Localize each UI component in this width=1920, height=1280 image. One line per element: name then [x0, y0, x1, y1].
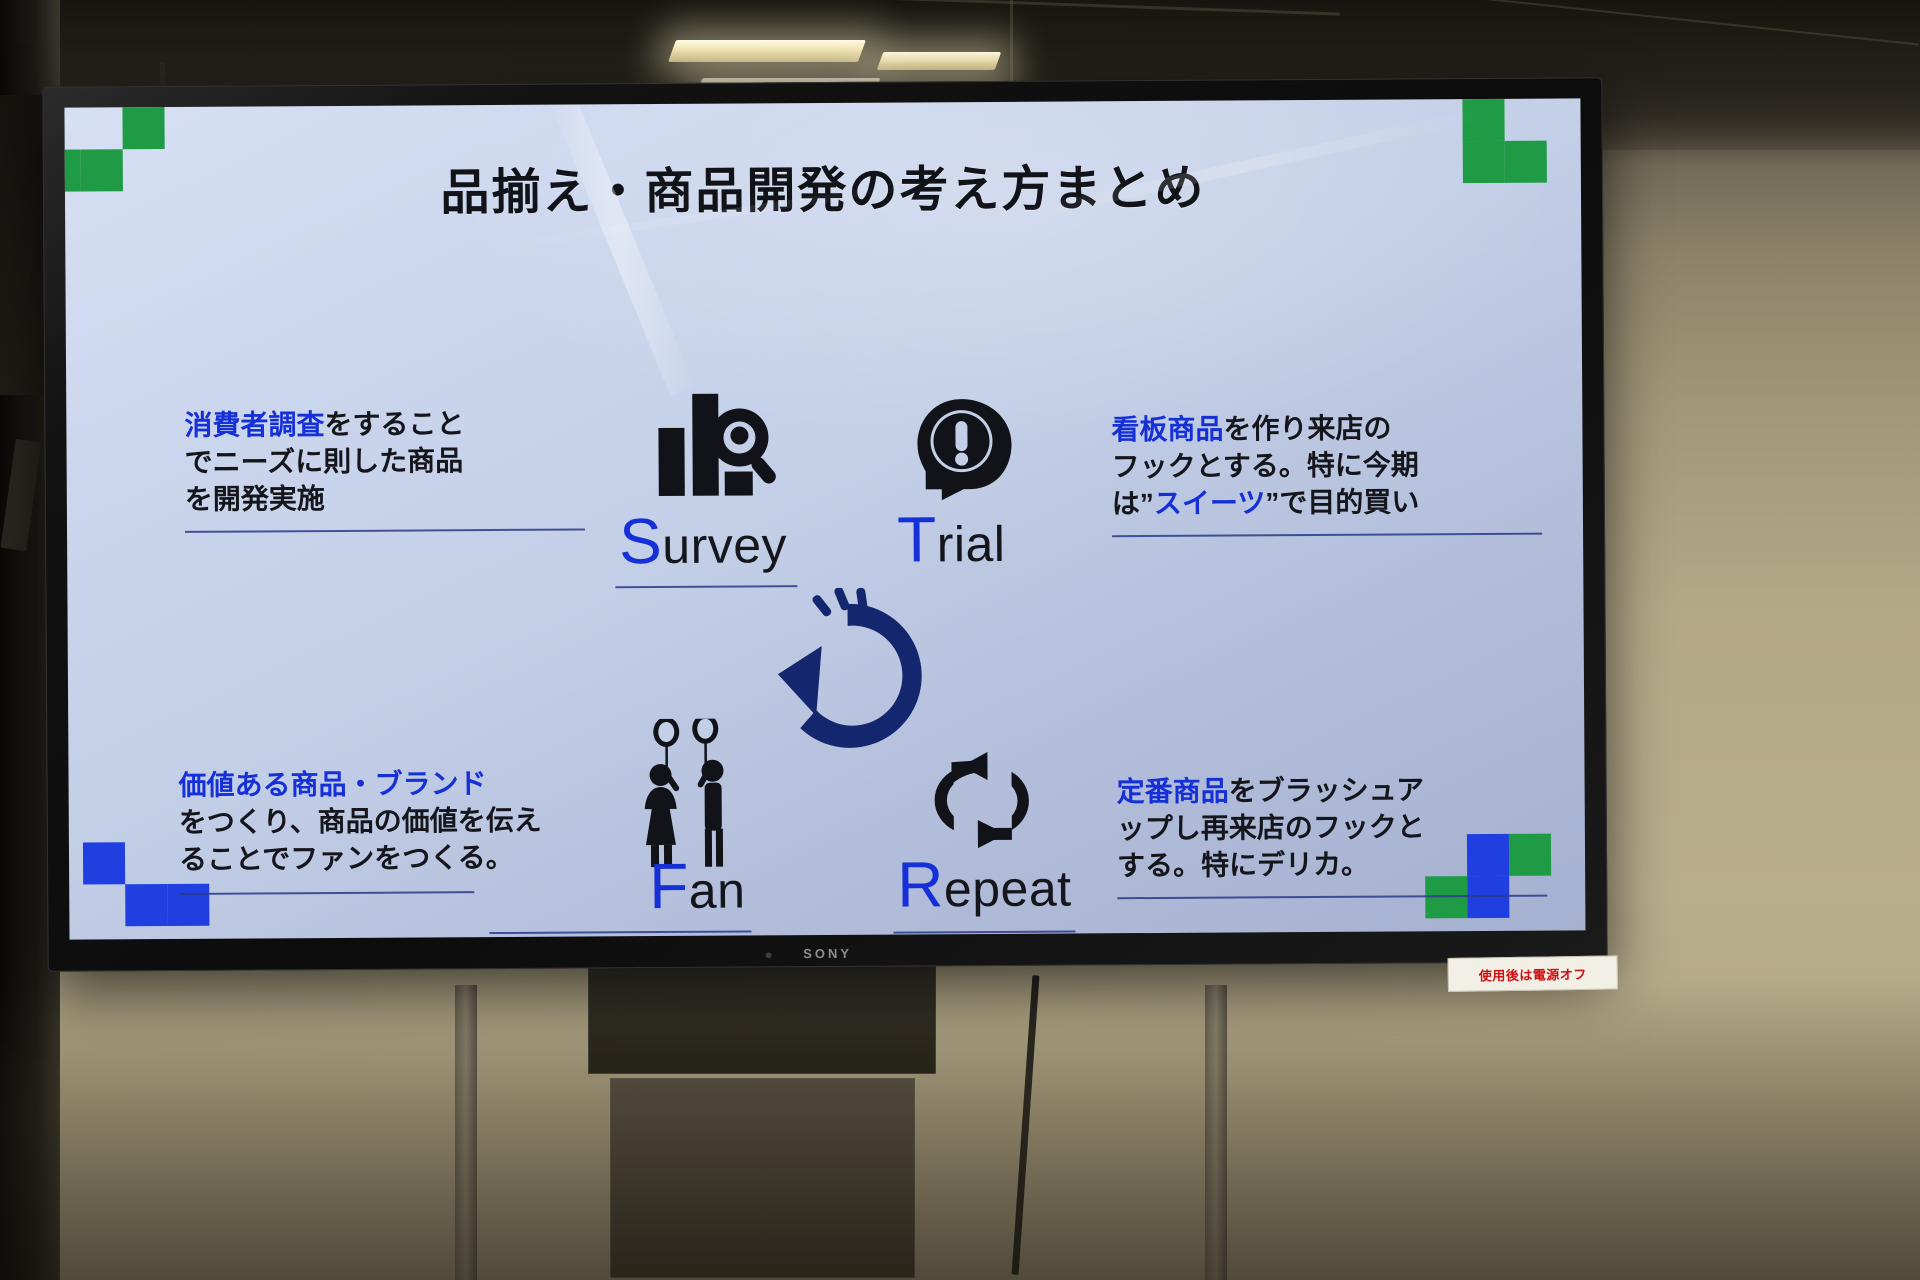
pillar-label-trial: Trial	[897, 502, 1006, 577]
survey-text-highlight: 消費者調査	[184, 409, 324, 441]
pillar-initial-t: T	[897, 503, 937, 575]
divider-line	[185, 528, 585, 532]
tv-screen: 品揃え・商品開発の考え方まとめ 消費者調査をすること でニーズに則した商品 を開…	[64, 98, 1585, 939]
divider-line	[489, 930, 751, 934]
trial-text-highlight: 看板商品	[1111, 414, 1223, 446]
pillar-rest-survey: urvey	[662, 517, 787, 574]
bar-chart-magnifier-icon	[656, 393, 777, 509]
quadrant-text-trial: 看板商品を作り来店の フックとする。特に今期 は”スイーツ”で目的買い	[1111, 409, 1542, 523]
refresh-arrows-icon	[923, 750, 1044, 856]
divider-line	[1112, 532, 1542, 537]
television: 品揃え・商品開発の考え方まとめ 消費者調査をすること でニーズに則した商品 を開…	[42, 77, 1607, 972]
pillar-initial-f: F	[649, 850, 689, 922]
power-off-warning-text: 使用後は電源オフ	[1479, 963, 1587, 984]
page-title: 品揃え・商品開発の考え方まとめ	[65, 146, 1581, 226]
trial-inner-highlight: スイーツ	[1154, 488, 1266, 520]
repeat-text-highlight: 定番商品	[1117, 776, 1229, 808]
fan-text-highlight: 価値ある商品・ブランド	[178, 768, 486, 801]
floor-shadow	[0, 980, 1920, 1280]
presentation-slide: 品揃え・商品開発の考え方まとめ 消費者調査をすること でニーズに則した商品 を開…	[64, 98, 1585, 939]
quadrant-text-survey: 消費者調査をすること でニーズに則した商品 を開発実施	[184, 404, 585, 518]
quadrant-text-fan: 価値ある商品・ブランド をつくり、商品の価値を伝え ることでファンをつくる。	[178, 764, 644, 879]
divider-line	[893, 930, 1075, 933]
divider-line	[179, 891, 474, 895]
ceiling-lamp	[877, 52, 1002, 70]
tv-brand-logo: SONY	[803, 946, 852, 961]
quadrant-text-repeat: 定番商品をブラッシュア ップし再来店のフックと する。特にデリカ。	[1117, 771, 1548, 885]
pillar-rest-trial: rial	[937, 516, 1006, 572]
pillar-label-survey: Survey	[619, 503, 787, 578]
tv-ir-sensor	[765, 952, 771, 958]
pillar-label-repeat: Repeat	[897, 847, 1072, 922]
pillar-rest-fan: an	[689, 862, 746, 918]
ceiling-lamp	[668, 40, 866, 62]
pillar-initial-r: R	[897, 848, 944, 920]
power-off-warning-label: 使用後は電源オフ	[1448, 955, 1618, 992]
pillar-initial-s: S	[619, 505, 663, 577]
circular-cycle-arrow-icon	[757, 587, 938, 768]
head-exclamation-icon	[911, 397, 1022, 513]
pillar-rest-repeat: epeat	[944, 861, 1072, 918]
screen-glare	[542, 98, 695, 396]
pillar-label-fan: Fan	[649, 848, 746, 923]
